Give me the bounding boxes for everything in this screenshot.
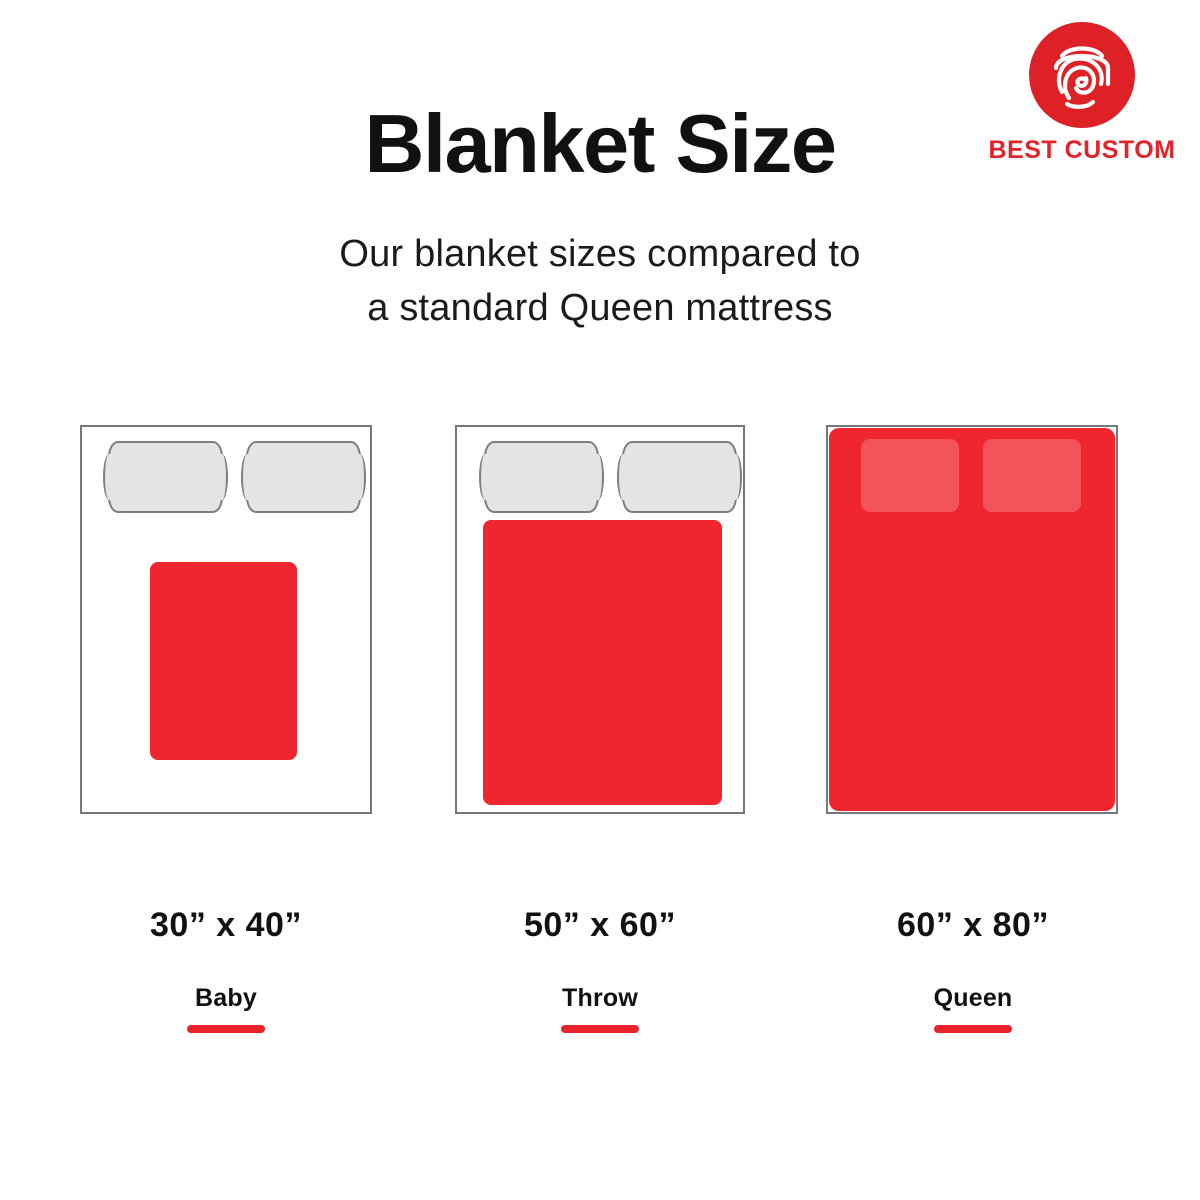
caption-baby: 30” x 40” Baby [46, 908, 406, 1033]
bed-diagram-queen [826, 425, 1118, 814]
subtitle-line-2: a standard Queen mattress [0, 282, 1200, 336]
blanket-throw [483, 520, 722, 805]
caption-name-label: Throw [420, 986, 780, 1011]
pillow-left [108, 441, 223, 513]
blanket-baby [150, 562, 297, 760]
caption-underline [934, 1025, 1012, 1033]
bed-diagram-baby [80, 425, 372, 814]
pillow-left [484, 441, 599, 513]
caption-throw: 50” x 60” Throw [420, 908, 780, 1033]
page-title: Blanket Size [0, 100, 1200, 187]
subtitle-line-1: Our blanket sizes compared to [0, 228, 1200, 282]
caption-underline [187, 1025, 265, 1033]
pillow-right [246, 441, 361, 513]
caption-size-label: 30” x 40” [46, 908, 406, 942]
bed-diagram-throw [455, 425, 745, 814]
page-subtitle: Our blanket sizes compared to a standard… [0, 228, 1200, 336]
pillow-right [983, 439, 1081, 512]
caption-size-label: 50” x 60” [420, 908, 780, 942]
caption-underline [561, 1025, 639, 1033]
caption-queen: 60” x 80” Queen [793, 908, 1153, 1033]
caption-name-label: Baby [46, 986, 406, 1011]
caption-size-label: 60” x 80” [793, 908, 1153, 942]
pillow-left [861, 439, 959, 512]
pillow-right [622, 441, 737, 513]
caption-name-label: Queen [793, 986, 1153, 1011]
